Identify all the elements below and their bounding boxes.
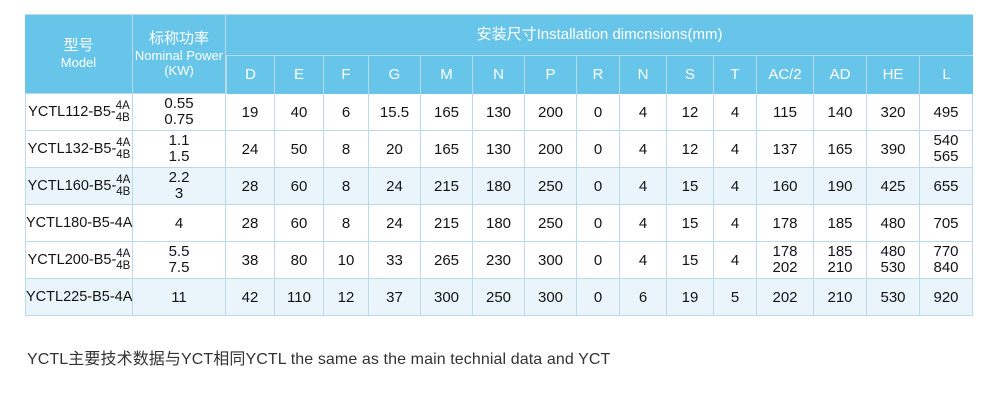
spec-sheet: 型号 Model 标称功率 Nominal Power (KW) 安装尺寸Ins… (0, 0, 998, 402)
cell-n2: 6 (620, 279, 667, 316)
cell-f: 8 (324, 131, 369, 168)
header-dim-l: L (920, 56, 973, 94)
cell-he: 320 (867, 94, 920, 131)
table-row: YCTL200-B5-4A4B5.57.53880103326523030004… (25, 242, 973, 279)
table-row: YCTL180-B5-4A428608242151802500415417818… (25, 205, 973, 242)
cell-nominal-power: 5.57.5 (133, 242, 226, 279)
cell-n1: 180 (473, 205, 525, 242)
cell-ad: 185210 (814, 242, 867, 279)
cell-ac2: 178202 (757, 242, 814, 279)
header-power-cn: 标称功率 (133, 30, 225, 48)
cell-e: 80 (275, 242, 324, 279)
cell-g: 33 (369, 242, 421, 279)
cell-d: 42 (226, 279, 275, 316)
installation-dimensions-table: 型号 Model 标称功率 Nominal Power (KW) 安装尺寸Ins… (25, 14, 973, 316)
header-dim-ac2: AC/2 (757, 56, 814, 94)
table-caption: YCTL主要技术数据与YCT相同YCTL the same as the mai… (27, 345, 610, 369)
cell-l: 705 (920, 205, 973, 242)
cell-t: 4 (714, 94, 757, 131)
header-dim-n1: N (473, 56, 525, 94)
cell-m: 300 (421, 279, 473, 316)
cell-r: 0 (577, 168, 620, 205)
header-dim-ad: AD (814, 56, 867, 94)
cell-e: 50 (275, 131, 324, 168)
cell-s: 15 (667, 242, 714, 279)
cell-he: 480 (867, 205, 920, 242)
header-dim-d: D (226, 56, 275, 94)
cell-s: 12 (667, 94, 714, 131)
cell-g: 24 (369, 205, 421, 242)
cell-l: 495 (920, 94, 973, 131)
cell-n2: 4 (620, 131, 667, 168)
cell-n2: 4 (620, 94, 667, 131)
cell-f: 10 (324, 242, 369, 279)
cell-n1: 230 (473, 242, 525, 279)
cell-ac2: 137 (757, 131, 814, 168)
header-dim-m: M (421, 56, 473, 94)
cell-g: 24 (369, 168, 421, 205)
table-body: YCTL112-B5-4A4B0.550.751940615.516513020… (25, 94, 973, 316)
cell-p: 300 (525, 242, 577, 279)
cell-r: 0 (577, 94, 620, 131)
header-model: 型号 Model (25, 14, 133, 94)
cell-p: 250 (525, 168, 577, 205)
cell-nominal-power: 11 (133, 279, 226, 316)
cell-p: 200 (525, 131, 577, 168)
cell-f: 8 (324, 168, 369, 205)
header-power-unit: (KW) (133, 63, 225, 78)
cell-l: 540565 (920, 131, 973, 168)
header-dim-s: S (667, 56, 714, 94)
cell-model: YCTL160-B5-4A4B (25, 168, 133, 205)
header-dim-t: T (714, 56, 757, 94)
cell-d: 24 (226, 131, 275, 168)
cell-t: 4 (714, 242, 757, 279)
cell-model: YCTL180-B5-4A (25, 205, 133, 242)
cell-m: 165 (421, 131, 473, 168)
cell-s: 15 (667, 205, 714, 242)
table-head: 型号 Model 标称功率 Nominal Power (KW) 安装尺寸Ins… (25, 14, 973, 94)
cell-n2: 4 (620, 168, 667, 205)
cell-f: 12 (324, 279, 369, 316)
cell-nominal-power: 4 (133, 205, 226, 242)
table-row: YCTL225-B5-4A114211012373002503000619520… (25, 279, 973, 316)
table-row: YCTL112-B5-4A4B0.550.751940615.516513020… (25, 94, 973, 131)
header-dim-p: P (525, 56, 577, 94)
cell-m: 165 (421, 94, 473, 131)
cell-s: 12 (667, 131, 714, 168)
cell-model: YCTL132-B5-4A4B (25, 131, 133, 168)
cell-m: 215 (421, 168, 473, 205)
cell-ac2: 202 (757, 279, 814, 316)
table-row: YCTL160-B5-4A4B2.23286082421518025004154… (25, 168, 973, 205)
header-model-cn: 型号 (25, 37, 132, 55)
cell-model: YCTL112-B5-4A4B (25, 94, 133, 131)
cell-ad: 210 (814, 279, 867, 316)
cell-ad: 165 (814, 131, 867, 168)
cell-ac2: 160 (757, 168, 814, 205)
cell-t: 5 (714, 279, 757, 316)
header-nominal-power: 标称功率 Nominal Power (KW) (133, 14, 226, 94)
cell-g: 37 (369, 279, 421, 316)
header-dim-r: R (577, 56, 620, 94)
cell-n1: 250 (473, 279, 525, 316)
header-row-group: 型号 Model 标称功率 Nominal Power (KW) 安装尺寸Ins… (25, 14, 973, 56)
cell-n2: 4 (620, 205, 667, 242)
cell-e: 40 (275, 94, 324, 131)
cell-e: 110 (275, 279, 324, 316)
cell-p: 200 (525, 94, 577, 131)
cell-nominal-power: 1.11.5 (133, 131, 226, 168)
cell-l: 770840 (920, 242, 973, 279)
cell-d: 28 (226, 205, 275, 242)
cell-r: 0 (577, 205, 620, 242)
cell-t: 4 (714, 168, 757, 205)
cell-s: 15 (667, 168, 714, 205)
cell-he: 425 (867, 168, 920, 205)
cell-ad: 140 (814, 94, 867, 131)
cell-d: 28 (226, 168, 275, 205)
cell-n1: 130 (473, 131, 525, 168)
cell-r: 0 (577, 242, 620, 279)
cell-n2: 4 (620, 242, 667, 279)
cell-r: 0 (577, 279, 620, 316)
cell-nominal-power: 0.550.75 (133, 94, 226, 131)
cell-ad: 185 (814, 205, 867, 242)
cell-d: 38 (226, 242, 275, 279)
cell-nominal-power: 2.23 (133, 168, 226, 205)
cell-g: 15.5 (369, 94, 421, 131)
cell-f: 6 (324, 94, 369, 131)
cell-e: 60 (275, 205, 324, 242)
cell-s: 19 (667, 279, 714, 316)
cell-t: 4 (714, 131, 757, 168)
cell-he: 530 (867, 279, 920, 316)
cell-d: 19 (226, 94, 275, 131)
cell-ac2: 178 (757, 205, 814, 242)
header-power-en: Nominal Power (133, 48, 225, 63)
cell-ac2: 115 (757, 94, 814, 131)
cell-p: 250 (525, 205, 577, 242)
header-dim-he: HE (867, 56, 920, 94)
cell-he: 390 (867, 131, 920, 168)
header-model-en: Model (25, 55, 132, 70)
cell-l: 655 (920, 168, 973, 205)
cell-n1: 130 (473, 94, 525, 131)
cell-t: 4 (714, 205, 757, 242)
cell-p: 300 (525, 279, 577, 316)
table-row: YCTL132-B5-4A4B1.11.52450820165130200041… (25, 131, 973, 168)
header-dim-f: F (324, 56, 369, 94)
cell-m: 265 (421, 242, 473, 279)
cell-m: 215 (421, 205, 473, 242)
cell-he: 480530 (867, 242, 920, 279)
cell-model: YCTL225-B5-4A (25, 279, 133, 316)
cell-n1: 180 (473, 168, 525, 205)
header-installation-dimensions: 安装尺寸Installation dimcnsions(mm) (226, 14, 973, 56)
cell-e: 60 (275, 168, 324, 205)
header-dim-g: G (369, 56, 421, 94)
cell-l: 920 (920, 279, 973, 316)
cell-g: 20 (369, 131, 421, 168)
header-dim-e: E (275, 56, 324, 94)
cell-f: 8 (324, 205, 369, 242)
cell-r: 0 (577, 131, 620, 168)
cell-model: YCTL200-B5-4A4B (25, 242, 133, 279)
header-dim-n2: N (620, 56, 667, 94)
cell-ad: 190 (814, 168, 867, 205)
